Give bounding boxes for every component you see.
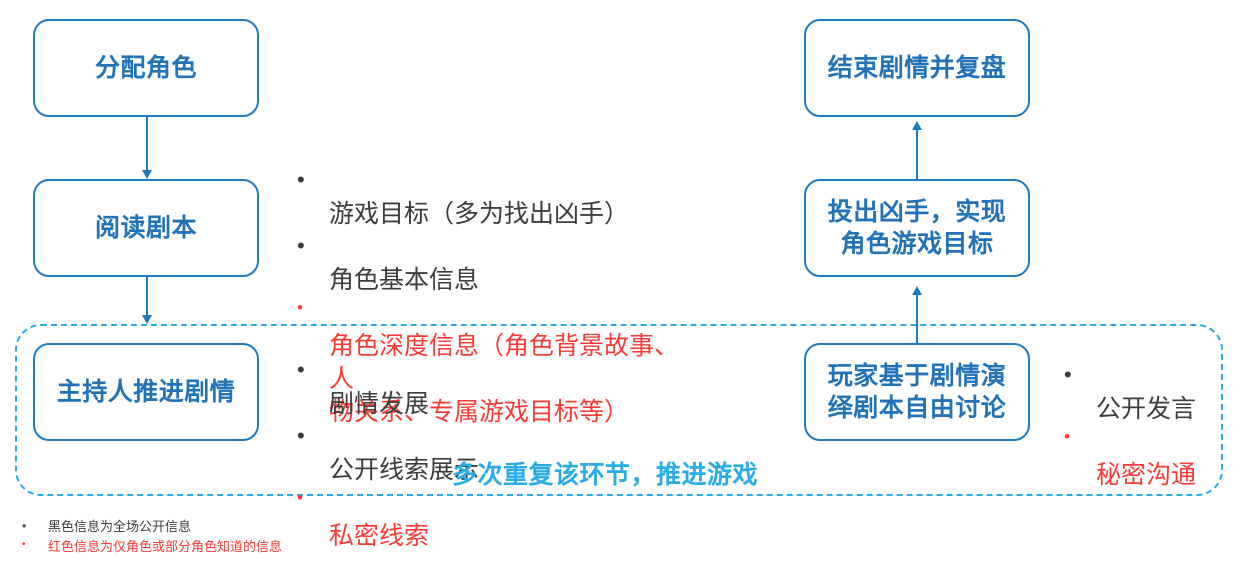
node-read-script-label: 阅读剧本 [89,212,203,244]
arrow-head-up-icon [912,121,922,130]
arrow-head-down-icon [142,315,152,324]
list-item-text: 秘密沟通 [1096,461,1196,489]
node-host-advance-label: 主持人推进剧情 [51,376,242,408]
node-host-advance[interactable]: 主持人推进剧情 [33,343,259,441]
list-host-advance-points: 剧情发展 公开线索展示 私密线索 [295,355,555,553]
flowchart-canvas: 分配角色 阅读剧本 主持人推进剧情 结束剧情并复盘 投出凶手，实现 角色游戏目标… [0,0,1239,579]
list-item-text: 游戏目标（多为找出凶手） [329,200,629,228]
legend-item-label: 红色信息为仅角色或部分角色知道的信息 [48,539,282,554]
node-players-discuss[interactable]: 玩家基于剧情演 绎剧本自由讨论 [804,343,1030,441]
node-vote-murderer[interactable]: 投出凶手，实现 角色游戏目标 [804,179,1030,277]
node-players-discuss-label: 玩家基于剧情演 绎剧本自由讨论 [822,360,1013,424]
list-item-text: 公开发言 [1096,395,1196,423]
arrow-shaft [916,130,918,179]
repeat-phase-caption: 多次重复该环节，推进游戏 [452,455,758,491]
legend-item-private: 红色信息为仅角色或部分角色知道的信息 [10,537,282,557]
list-item: 公开发言 [1062,360,1237,426]
list-item: 角色基本信息 [295,231,685,297]
node-vote-murderer-label: 投出凶手，实现 角色游戏目标 [822,196,1013,260]
node-read-script[interactable]: 阅读剧本 [33,179,259,277]
list-item: 剧情发展 [295,355,555,421]
node-assign-role-label: 分配角色 [89,52,203,84]
legend-item-public: 黑色信息为全场公开信息 [10,517,282,537]
list-players-discuss-points: 公开发言 秘密沟通 [1062,360,1237,492]
node-assign-role[interactable]: 分配角色 [33,19,259,117]
arrow-head-down-icon [142,170,152,179]
node-end-review[interactable]: 结束剧情并复盘 [804,19,1030,117]
list-item-text: 私密线索 [329,522,429,550]
node-end-review-label: 结束剧情并复盘 [822,52,1013,84]
list-item-text: 角色基本信息 [329,266,479,294]
list-item: 私密线索 [295,487,555,553]
arrow-head-up-icon [912,286,922,295]
list-item-text: 剧情发展 [329,390,429,418]
legend: 黑色信息为全场公开信息 红色信息为仅角色或部分角色知道的信息 [10,517,282,557]
arrow-shaft [146,277,148,315]
list-item: 游戏目标（多为找出凶手） [295,165,685,231]
arrow-shaft [146,117,148,170]
arrow-shaft [916,295,918,343]
list-item: 秘密沟通 [1062,426,1237,492]
legend-item-label: 黑色信息为全场公开信息 [48,519,191,534]
